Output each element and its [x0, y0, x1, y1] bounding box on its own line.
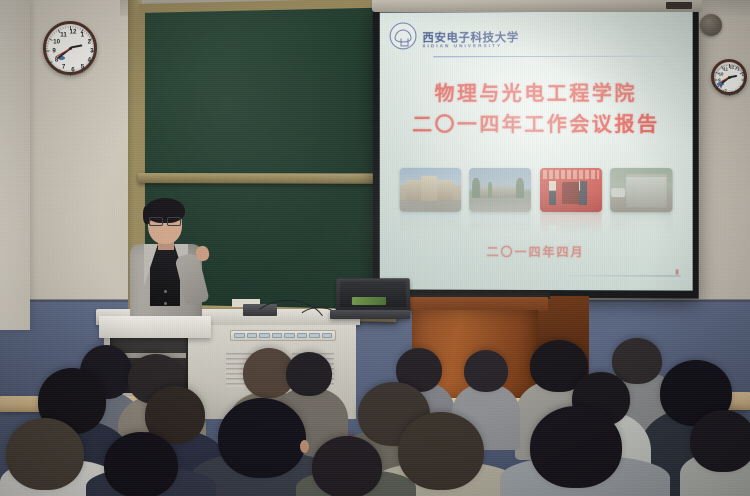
audience-area	[0, 0, 750, 496]
attendee-head	[218, 398, 306, 478]
attendee-head	[312, 436, 382, 496]
attendee-ear	[300, 440, 309, 453]
attendee-head	[690, 410, 750, 472]
attendee-head	[104, 432, 178, 496]
attendee-head	[6, 418, 84, 490]
attendee-head	[530, 406, 622, 488]
attendee-head	[464, 350, 508, 392]
attendee-head	[398, 412, 484, 490]
attendee-head	[612, 338, 662, 384]
attendee-head	[286, 352, 332, 396]
lecture-hall-photo: 121234567891011 121234567891011 西安电子科技大学	[0, 0, 750, 496]
